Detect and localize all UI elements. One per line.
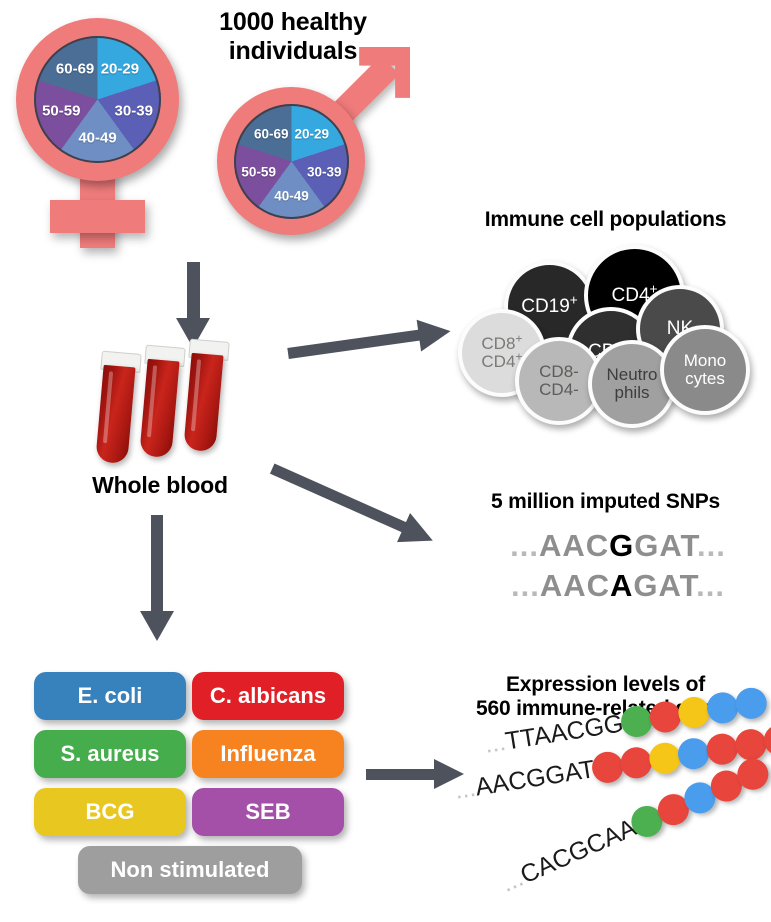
section-title-snps: 5 million imputed SNPs	[440, 490, 771, 514]
snp-sequence-top: ...AACGGAT...	[478, 528, 758, 564]
male-symbol-arrow-head	[348, 47, 410, 109]
whole-blood-tubes	[98, 340, 258, 470]
blood-tube	[95, 351, 137, 465]
immune-cell-label: Neutrophils	[606, 366, 657, 401]
pie-label-30-39: 30-39	[115, 103, 153, 120]
dna-bead	[647, 740, 682, 775]
immune-cell-label: CD8+CD4+	[481, 335, 522, 370]
immune-cell-label: Monocytes	[684, 352, 727, 387]
stimulus-c-albicans[interactable]: C. albicans	[192, 672, 344, 720]
immune-cell-label: CD19+	[521, 297, 578, 317]
immune-cell-label: CD8-CD4-	[539, 363, 579, 398]
stimulus-s-aureus[interactable]: S. aureus	[34, 730, 186, 778]
label-whole-blood: Whole blood	[52, 472, 268, 498]
blood-tube	[139, 345, 181, 459]
dna-bead	[647, 699, 682, 734]
dna-sequence-text: ...CACGCAA	[497, 813, 641, 898]
pie-label-50-59: 50-59	[241, 165, 276, 180]
dna-bead	[733, 686, 768, 721]
female-symbol-cross	[50, 200, 145, 233]
pie-label-50-59: 50-59	[42, 103, 80, 120]
dna-bead	[705, 690, 740, 725]
stimuli-panel: E. coliC. albicansS. aureusInfluenzaBCGS…	[34, 672, 354, 898]
male-age-pie-chart: 20-2930-3940-4950-5960-69	[234, 104, 349, 219]
dna-bead	[676, 736, 711, 771]
arrow-blood-to-snps	[264, 451, 447, 562]
snp-sequence-block: ...AACGGAT... ...AACAGAT...	[478, 528, 758, 618]
female-gender-symbol: 20-2930-3940-4950-5960-69	[8, 10, 203, 250]
pie-label-40-49: 40-49	[274, 189, 309, 204]
stimulus-non-stimulated[interactable]: Non stimulated	[78, 846, 302, 894]
male-gender-symbol: 20-2930-3940-4950-5960-69	[205, 55, 415, 245]
pie-label-30-39: 30-39	[307, 165, 342, 180]
dna-bead	[705, 731, 740, 766]
stimulus-seb[interactable]: SEB	[192, 788, 344, 836]
dna-sequence-text: ...AACGGAT	[453, 755, 597, 806]
female-age-pie-chart: 20-2930-3940-4950-5960-69	[34, 36, 161, 163]
blood-tube	[183, 339, 225, 453]
pie-label-20-29: 20-29	[101, 60, 139, 77]
arrow-cohort-to-blood	[176, 262, 210, 348]
pie-label-20-29: 20-29	[295, 126, 330, 141]
figure-canvas: 20-2930-3940-4950-5960-69 1000 healthyin…	[0, 0, 771, 922]
section-title-immune-cells: Immune cell populations	[440, 208, 771, 232]
expression-dna-strands: ...TTAACGG...AACGGAT...CACGCAA	[455, 720, 771, 915]
stimulus-influenza[interactable]: Influenza	[192, 730, 344, 778]
pie-label-60-69: 60-69	[56, 60, 94, 77]
dna-bead	[676, 695, 711, 730]
stimulus-e-coli[interactable]: E. coli	[34, 672, 186, 720]
immune-cell-population-cluster: CD19+CD4+CD8+CD4+CD8+NKCD8-CD4-Neutrophi…	[458, 245, 771, 410]
stimulus-bcg[interactable]: BCG	[34, 788, 186, 836]
pie-label-40-49: 40-49	[78, 129, 116, 146]
pie-label-60-69: 60-69	[254, 126, 289, 141]
snp-sequence-bottom: ...AACAGAT...	[478, 568, 758, 604]
arrow-blood-to-stimuli	[140, 515, 174, 641]
immune-cell-monocytes: Monocytes	[660, 325, 750, 415]
arrow-blood-to-immune-cells	[285, 310, 457, 373]
dna-bead	[619, 745, 654, 780]
